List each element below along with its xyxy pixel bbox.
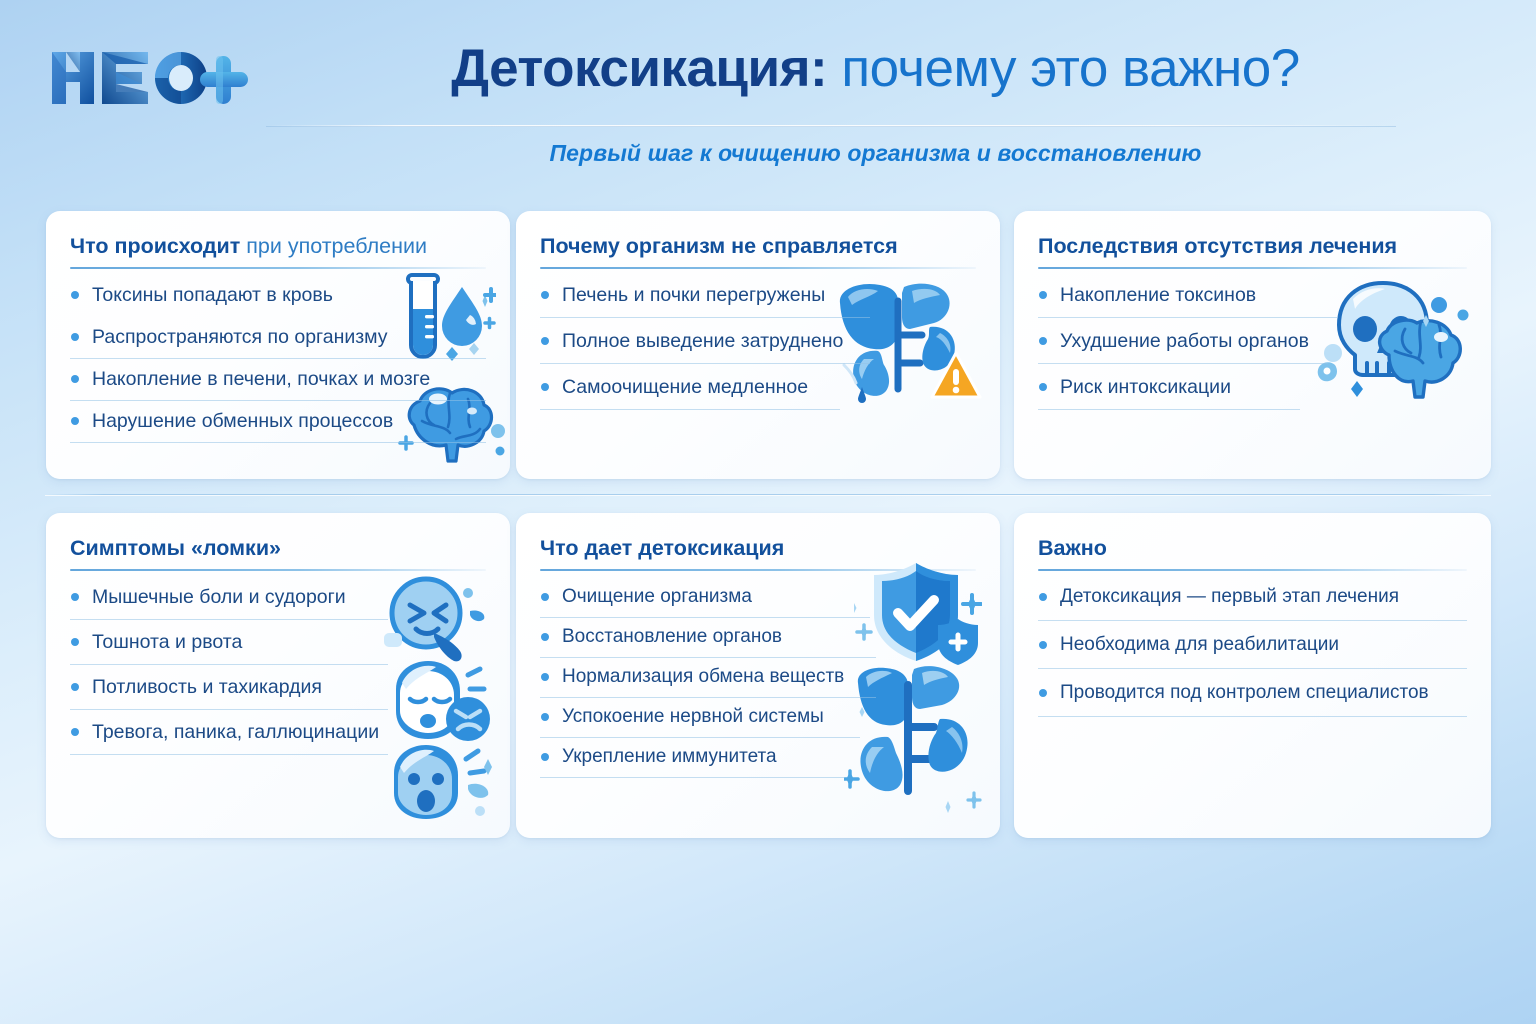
card-bullet-list: Токсины попадают в кровь Распространяютс… bbox=[70, 283, 486, 443]
card-title-underline bbox=[1038, 569, 1467, 571]
bullet-dot-icon bbox=[71, 291, 79, 299]
list-item: Потливость и тахикардия bbox=[70, 675, 388, 710]
neo-plus-logo-icon bbox=[44, 42, 254, 112]
list-item-label: Риск интоксикации bbox=[1060, 376, 1231, 398]
card-bullet-list: Накопление токсинов Ухудшение работы орг… bbox=[1038, 283, 1467, 410]
card-bullet-list: Печень и почки перегружены Полное выведе… bbox=[540, 283, 976, 410]
list-item: Укрепление иммунитета bbox=[540, 745, 845, 778]
list-item-label: Тошнота и рвота bbox=[92, 631, 242, 653]
list-item-label: Успокоение нервной системы bbox=[562, 706, 824, 727]
list-item: Детоксикация — первый этап лечения bbox=[1038, 585, 1467, 621]
card-withdrawal-symptoms: Симптомы «ломки» Мышечные боли и судорог… bbox=[46, 513, 510, 838]
list-item: Риск интоксикации bbox=[1038, 375, 1300, 410]
list-item: Печень и почки перегружены bbox=[540, 283, 870, 318]
list-item: Накопление в печени, почках и мозге bbox=[70, 367, 486, 401]
list-item-label: Токсины попадают в кровь bbox=[92, 284, 333, 306]
card-title: Что происходит при употреблении bbox=[70, 233, 486, 259]
card-title-underline bbox=[540, 569, 976, 571]
list-item: Необходима для реабилитации bbox=[1038, 633, 1467, 669]
list-item: Накопление токсинов bbox=[1038, 283, 1338, 318]
list-item-label: Очищение организма bbox=[562, 586, 752, 607]
list-item: Полное выведение затруднено bbox=[540, 329, 870, 364]
bullet-dot-icon bbox=[71, 333, 79, 341]
list-item-label: Распространяются по организму bbox=[92, 326, 388, 348]
card-title-bold: Что дает детоксикация bbox=[540, 536, 784, 560]
bullet-dot-icon bbox=[1039, 641, 1047, 649]
list-item: Тревога, паника, галлюцинации bbox=[70, 720, 388, 755]
list-item: Нормализация обмена веществ bbox=[540, 665, 876, 698]
bullet-dot-icon bbox=[541, 593, 549, 601]
card-title-underline bbox=[70, 267, 486, 269]
bullet-dot-icon bbox=[71, 417, 79, 425]
bullet-dot-icon bbox=[71, 638, 79, 646]
bullet-dot-icon bbox=[541, 713, 549, 721]
bullet-dot-icon bbox=[541, 291, 549, 299]
list-item-label: Накопление в печени, почках и мозге bbox=[92, 368, 430, 390]
card-what-happens: Что происходит при употреблении Токсины … bbox=[46, 211, 510, 479]
card-title: Последствия отсутствия лечения bbox=[1038, 233, 1467, 259]
card-title-bold: Почему организм не справляется bbox=[540, 234, 898, 258]
list-item-label: Самоочищение медленное bbox=[562, 376, 808, 398]
list-item-label: Укрепление иммунитета bbox=[562, 746, 777, 767]
card-title-bold: Важно bbox=[1038, 536, 1107, 560]
list-item-label: Накопление токсинов bbox=[1060, 284, 1256, 306]
bullet-dot-icon bbox=[1039, 689, 1047, 697]
list-item-label: Детоксикация — первый этап лечения bbox=[1060, 586, 1399, 607]
list-item: Проводится под контролем специалистов bbox=[1038, 681, 1467, 717]
list-item: Ухудшение работы органов bbox=[1038, 329, 1328, 364]
list-item-label: Полное выведение затруднено bbox=[562, 330, 843, 352]
card-why-body-fails: Почему организм не справляется Печень и … bbox=[516, 211, 1000, 479]
card-bullet-list: Очищение организма Восстановление органо… bbox=[540, 585, 976, 778]
list-item: Распространяются по организму bbox=[70, 325, 486, 359]
bullet-dot-icon bbox=[1039, 383, 1047, 391]
list-item-label: Необходима для реабилитации bbox=[1060, 634, 1339, 655]
neo-plus-logo bbox=[44, 42, 254, 112]
card-title-regular: при употреблении bbox=[240, 234, 427, 258]
bullet-dot-icon bbox=[71, 375, 79, 383]
card-title-underline bbox=[70, 569, 486, 571]
card-title: Симптомы «ломки» bbox=[70, 535, 486, 561]
bullet-dot-icon bbox=[1039, 337, 1047, 345]
card-consequences-no-treatment: Последствия отсутствия лечения Накоплени… bbox=[1014, 211, 1491, 479]
card-title-bold: Симптомы «ломки» bbox=[70, 536, 281, 560]
card-title: Почему организм не справляется bbox=[540, 233, 976, 259]
list-item-label: Восстановление органов bbox=[562, 626, 782, 647]
list-item-label: Мышечные боли и судороги bbox=[92, 586, 346, 608]
card-title: Что дает детоксикация bbox=[540, 535, 976, 561]
bullet-dot-icon bbox=[71, 683, 79, 691]
card-title-underline bbox=[1038, 267, 1467, 269]
list-item: Мышечные боли и судороги bbox=[70, 585, 388, 620]
card-title-underline bbox=[540, 267, 976, 269]
card-detox-benefits: Что дает детоксикация Очищение организма… bbox=[516, 513, 1000, 838]
list-item: Очищение организма bbox=[540, 585, 870, 618]
bullet-dot-icon bbox=[1039, 593, 1047, 601]
list-item: Тошнота и рвота bbox=[70, 630, 388, 665]
card-title: Важно bbox=[1038, 535, 1467, 561]
page-header: Детоксикация: почему это важно? Первый ш… bbox=[0, 0, 1536, 190]
list-item: Восстановление органов bbox=[540, 625, 876, 658]
infographic-page: Детоксикация: почему это важно? Первый ш… bbox=[0, 0, 1536, 1024]
row-divider bbox=[45, 494, 1491, 495]
card-title-bold: Последствия отсутствия лечения bbox=[1038, 234, 1397, 258]
list-item-label: Ухудшение работы органов bbox=[1060, 330, 1309, 352]
page-title: Детоксикация: почему это важно? bbox=[255, 38, 1496, 100]
bullet-dot-icon bbox=[541, 753, 549, 761]
bullet-dot-icon bbox=[1039, 291, 1047, 299]
bullet-dot-icon bbox=[541, 383, 549, 391]
card-bullet-list: Детоксикация — первый этап лечения Необх… bbox=[1038, 585, 1467, 717]
list-item-label: Проводится под контролем специалистов bbox=[1060, 682, 1429, 703]
header-divider bbox=[266, 125, 1396, 127]
list-item-label: Потливость и тахикардия bbox=[92, 676, 322, 698]
list-item-label: Нарушение обменных процессов bbox=[92, 410, 393, 432]
page-subtitle: Первый шаг к очищению организма и восста… bbox=[255, 140, 1496, 167]
list-item-label: Печень и почки перегружены bbox=[562, 284, 825, 306]
page-title-light: почему это важно? bbox=[827, 39, 1300, 98]
list-item: Успокоение нервной системы bbox=[540, 705, 860, 738]
page-title-bold: Детоксикация: bbox=[451, 39, 827, 98]
bullet-dot-icon bbox=[541, 633, 549, 641]
list-item-label: Тревога, паника, галлюцинации bbox=[92, 721, 379, 743]
card-title-bold: Что происходит bbox=[70, 234, 240, 258]
list-item-label: Нормализация обмена веществ bbox=[562, 666, 844, 687]
bullet-dot-icon bbox=[541, 337, 549, 345]
bullet-dot-icon bbox=[71, 593, 79, 601]
card-important: Важно Детоксикация — первый этап лечения… bbox=[1014, 513, 1491, 838]
list-item: Нарушение обменных процессов bbox=[70, 409, 486, 443]
list-item: Токсины попадают в кровь bbox=[70, 283, 486, 317]
bullet-dot-icon bbox=[71, 728, 79, 736]
bullet-dot-icon bbox=[541, 673, 549, 681]
card-bullet-list: Мышечные боли и судороги Тошнота и рвота… bbox=[70, 585, 486, 755]
list-item: Самоочищение медленное bbox=[540, 375, 840, 410]
